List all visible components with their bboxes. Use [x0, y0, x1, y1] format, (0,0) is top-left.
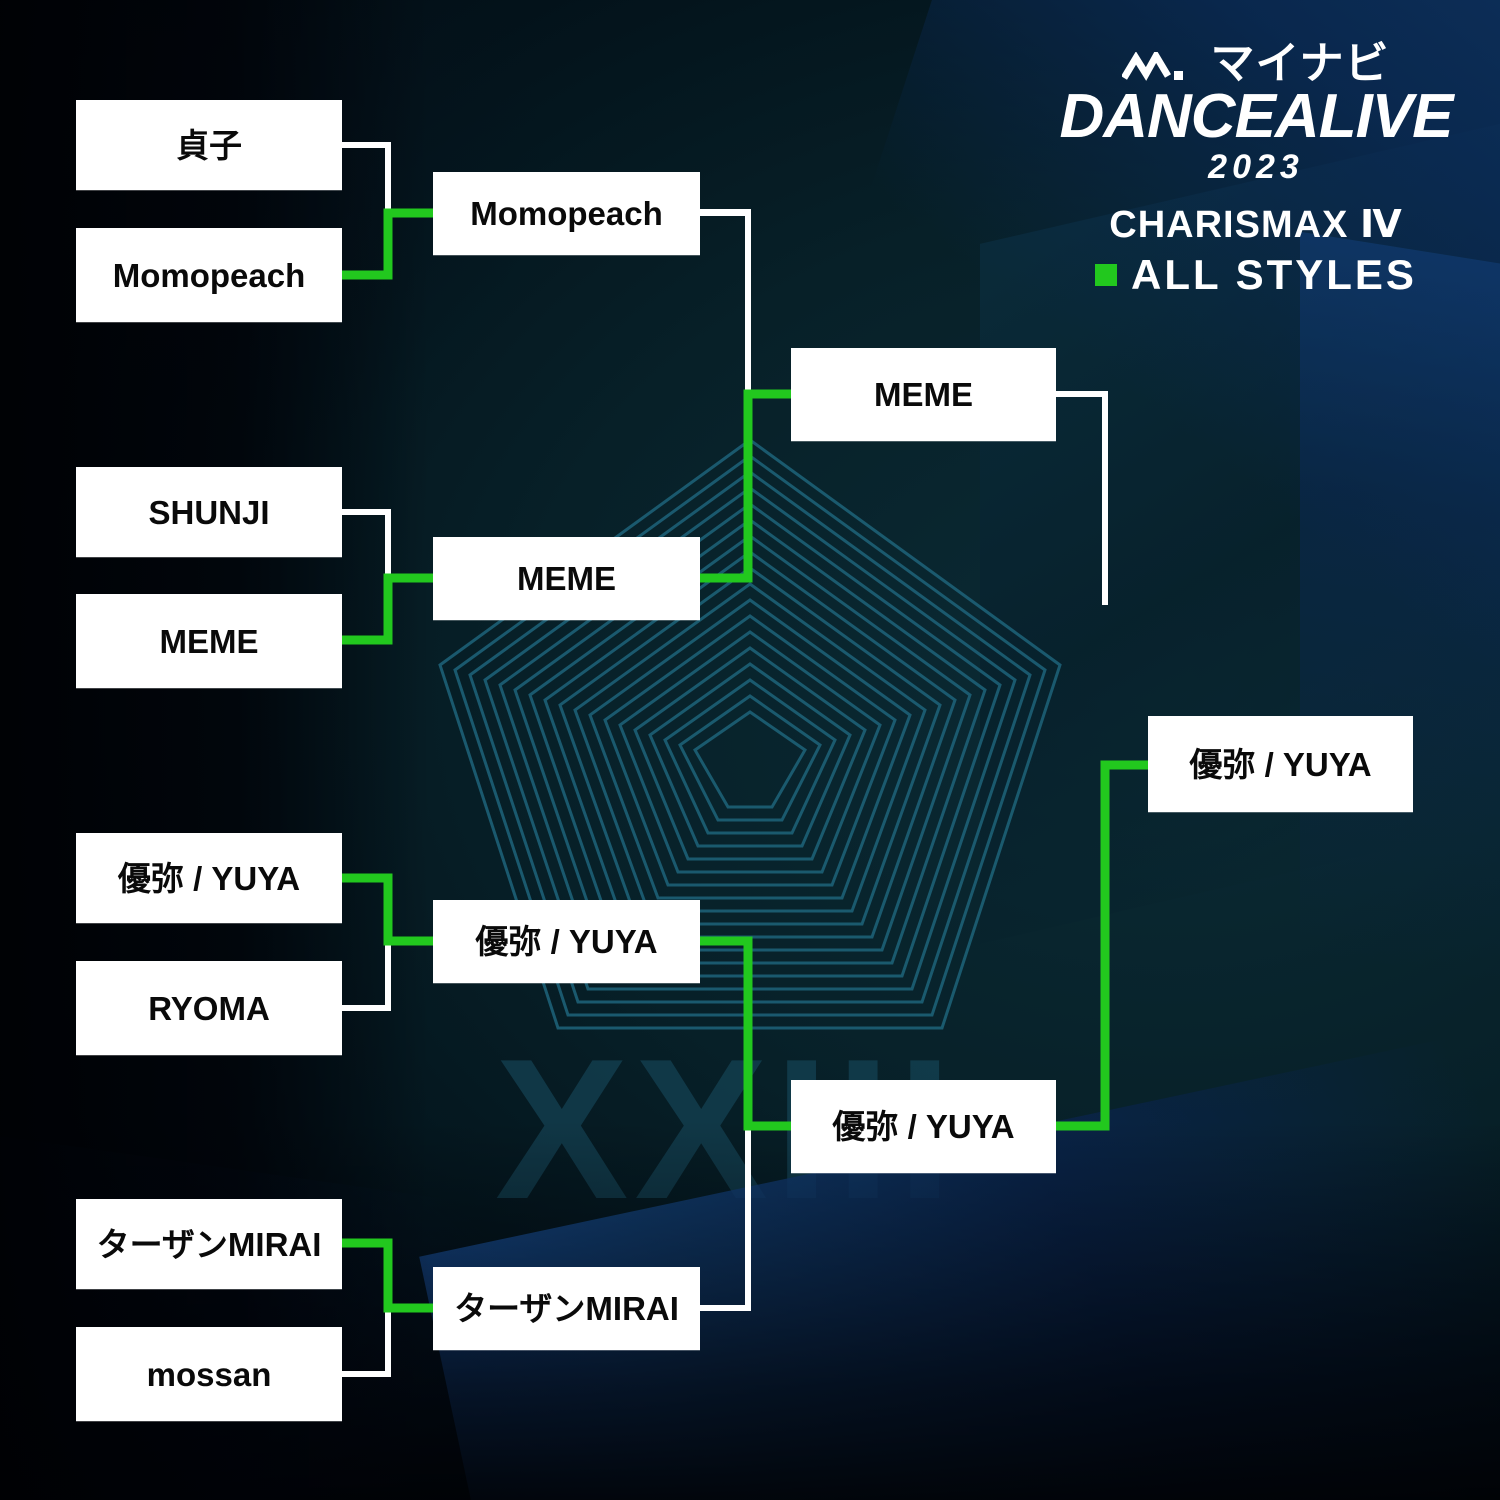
green-square-icon	[1095, 264, 1117, 286]
bracket-stage: XXIII	[0, 0, 1500, 1500]
competitor-name: MEME	[874, 378, 973, 411]
bracket-slot-r1-3[interactable]: SHUNJI	[76, 467, 342, 557]
bracket-slot-final[interactable]: 優弥 / YUYA	[1148, 716, 1413, 812]
competitor-name: 優弥 / YUYA	[1189, 748, 1371, 781]
bracket-slot-r2-4[interactable]: ターザンMIRAI	[433, 1267, 700, 1350]
logo-title: DANCEALIVE	[1046, 88, 1466, 147]
logo-brand-kana: マイナビ	[1210, 42, 1389, 86]
bracket-slot-r1-4[interactable]: MEME	[76, 594, 342, 688]
bracket-slot-r2-3[interactable]: 優弥 / YUYA	[433, 900, 700, 983]
bracket-slot-r2-1[interactable]: Momopeach	[433, 172, 700, 255]
logo-brand-row: マイナビ	[1046, 42, 1466, 86]
competitor-name: RYOMA	[148, 992, 270, 1025]
bracket-slot-r1-7[interactable]: ターザンMIRAI	[76, 1199, 342, 1289]
bracket-slot-r1-6[interactable]: RYOMA	[76, 961, 342, 1055]
competitor-name: MEME	[160, 625, 259, 658]
competitor-name: 貞子	[176, 129, 242, 162]
competitor-name: ターザンMIRAI	[454, 1292, 679, 1325]
competitor-name: 優弥 / YUYA	[475, 925, 657, 958]
wave-logo-icon	[1122, 52, 1200, 86]
bracket-slot-r1-8[interactable]: mossan	[76, 1327, 342, 1421]
competitor-name: SHUNJI	[148, 496, 269, 529]
logo-category-row: ALL STYLES	[1046, 252, 1466, 298]
logo-year: 2023	[1046, 149, 1466, 186]
competitor-name: 優弥 / YUYA	[832, 1110, 1014, 1143]
competitor-name: mossan	[147, 1358, 272, 1391]
competitor-name: Momopeach	[113, 259, 306, 292]
event-logo: マイナビ DANCEALIVE 2023 CHARISMAX Ⅳ ALL STY…	[1046, 42, 1466, 298]
logo-category: ALL STYLES	[1131, 252, 1417, 298]
bracket-slot-r3-2[interactable]: 優弥 / YUYA	[791, 1080, 1056, 1173]
competitor-name: 優弥 / YUYA	[118, 862, 300, 895]
bracket-slot-r3-1[interactable]: MEME	[791, 348, 1056, 441]
competitor-name: ターザンMIRAI	[97, 1228, 322, 1261]
competitor-name: Momopeach	[470, 197, 663, 230]
bracket-slot-r1-1[interactable]: 貞子	[76, 100, 342, 190]
competitor-name: MEME	[517, 562, 616, 595]
bracket-slot-r2-2[interactable]: MEME	[433, 537, 700, 620]
logo-subtitle: CHARISMAX Ⅳ	[1046, 204, 1466, 248]
bracket-slot-r1-5[interactable]: 優弥 / YUYA	[76, 833, 342, 923]
bracket-slot-r1-2[interactable]: Momopeach	[76, 228, 342, 322]
